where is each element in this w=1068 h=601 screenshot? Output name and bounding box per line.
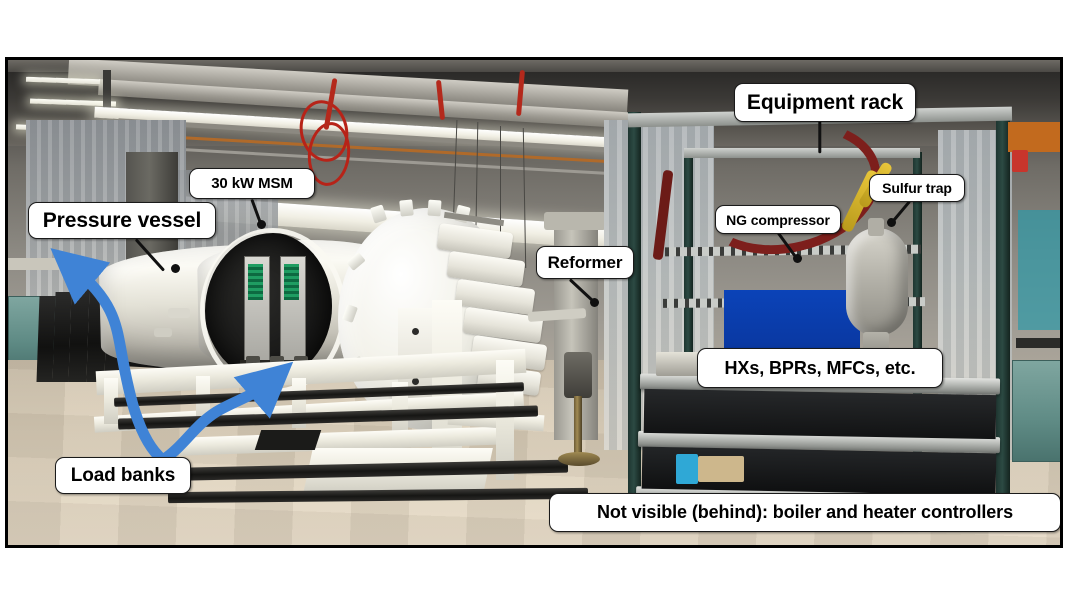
red-cup (1012, 150, 1028, 172)
reformer-cap (544, 212, 606, 230)
callout-hxs-bprs-mfcs-text: HXs, BPRs, MFCs, etc. (725, 358, 916, 379)
flange-lug-3 (427, 200, 441, 217)
vessel-port-1 (168, 308, 190, 318)
callout-equipment-rack[interactable]: Equipment rack (734, 83, 916, 122)
shelf-left (8, 258, 66, 270)
lower-shelf-tan-part (698, 456, 744, 482)
sulfur-trap-vessel (846, 228, 908, 336)
rack-shelf-gap-1 (644, 389, 997, 439)
reformer-stand-base (558, 452, 600, 466)
right-bg-equipment (1018, 210, 1060, 330)
leader-dot-msm (257, 220, 266, 229)
callout-reformer-text: Reformer (548, 253, 623, 273)
leader-dot-sulfur-trap (887, 218, 896, 227)
vessel-port-2 (154, 328, 172, 337)
callout-hxs-bprs-mfcs[interactable]: HXs, BPRs, MFCs, etc. (697, 348, 943, 388)
leader-dot-pressure-vessel (171, 264, 180, 273)
leader-dot-ng-compressor (793, 254, 802, 263)
callout-reformer[interactable]: Reformer (536, 246, 634, 279)
right-cabinet (1012, 360, 1060, 462)
callout-ng-compressor-text: NG compressor (726, 212, 830, 228)
callout-sulfur-trap-text: Sulfur trap (882, 180, 952, 196)
photo-frame: Pressure vessel 30 kW MSM Reformer Equip… (5, 57, 1063, 548)
right-bench-top (1016, 338, 1060, 348)
callout-msm-text: 30 kW MSM (211, 175, 293, 192)
callout-pressure-vessel-text: Pressure vessel (43, 209, 201, 233)
flange-lug-2 (399, 199, 414, 216)
leader-dot-reformer (590, 298, 599, 307)
callout-ng-compressor[interactable]: NG compressor (715, 205, 841, 234)
rack-post-left-front (628, 112, 641, 512)
callout-not-visible[interactable]: Not visible (behind): boiler and heater … (549, 493, 1061, 532)
callout-msm[interactable]: 30 kW MSM (189, 168, 315, 199)
lower-shelf-blue-part (676, 454, 698, 484)
flange-bolt-3 (412, 378, 419, 385)
reformer-stand-post (574, 396, 582, 456)
callout-load-banks[interactable]: Load banks (55, 457, 191, 494)
callout-equipment-rack-text: Equipment rack (747, 91, 903, 115)
callout-not-visible-text: Not visible (behind): boiler and heater … (597, 502, 1013, 523)
flange-bolt-1 (412, 328, 419, 335)
screenshot-root: Pressure vessel 30 kW MSM Reformer Equip… (0, 0, 1068, 601)
callout-sulfur-trap[interactable]: Sulfur trap (869, 174, 965, 202)
leader-equipment-rack (819, 121, 822, 153)
sulfur-trap-neck (868, 218, 884, 236)
cable-chain (255, 430, 321, 450)
callout-load-banks-text: Load banks (71, 465, 176, 487)
reformer-valve (564, 352, 592, 398)
right-bg-box (1008, 122, 1060, 152)
callout-pressure-vessel[interactable]: Pressure vessel (28, 202, 216, 239)
